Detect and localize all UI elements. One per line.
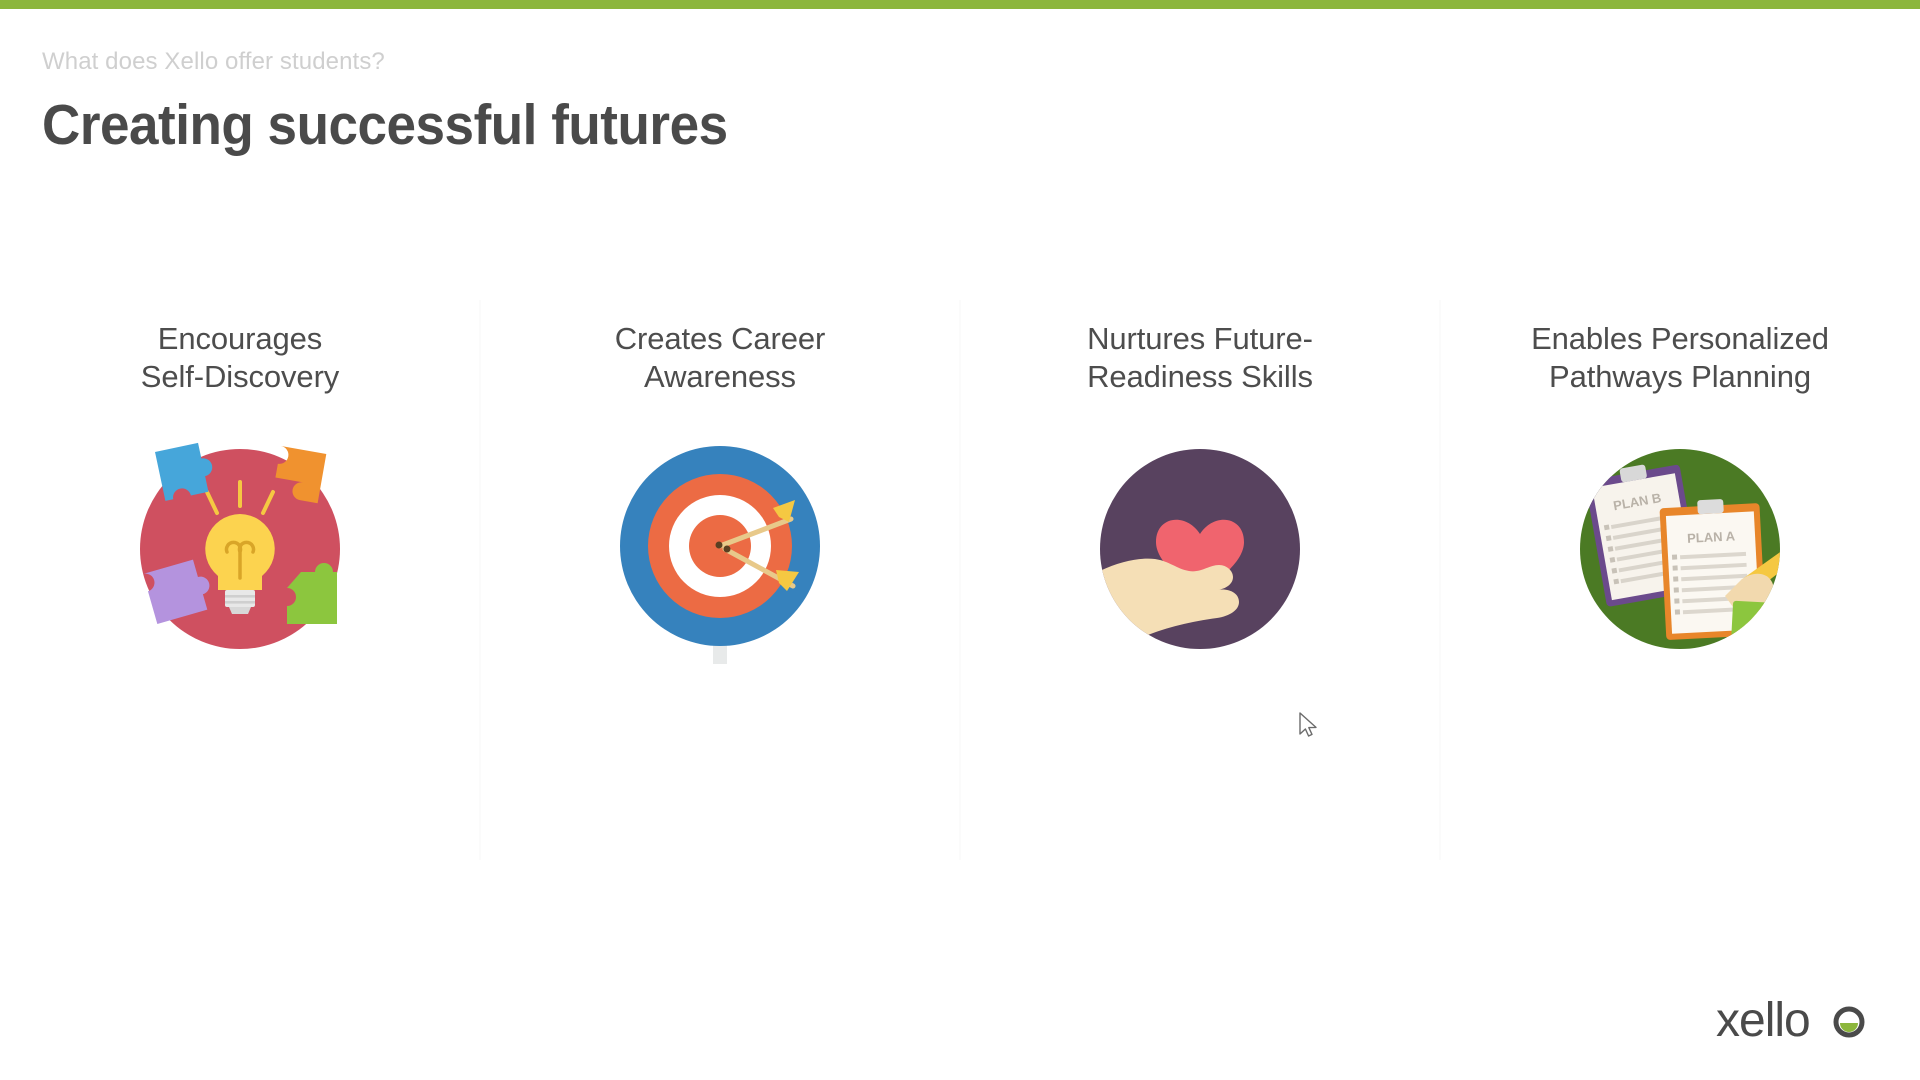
feature-label-line1: Encourages	[75, 320, 405, 358]
feature-label-line2: Pathways Planning	[1515, 358, 1845, 396]
feature-label-line1: Enables Personalized	[1515, 320, 1845, 358]
feature-label-line1: Nurtures Future-	[1035, 320, 1365, 358]
puzzle-lightbulb-icon	[115, 424, 365, 674]
xello-logo: xello	[1716, 994, 1876, 1048]
top-accent-bar	[0, 0, 1920, 9]
clipboard-plan-a-label: PLAN A	[1687, 528, 1736, 546]
feature-label: Creates Career Awareness	[555, 320, 885, 396]
feature-columns: Encourages Self-Discovery	[0, 320, 1920, 740]
slide-canvas: What does Xello offer students? Creating…	[0, 0, 1920, 1080]
mouse-pointer	[1298, 712, 1320, 747]
feature-label-line2: Self-Discovery	[75, 358, 405, 396]
clipboards-planning-icon: PLAN B	[1555, 424, 1805, 674]
heart-in-hand-icon	[1075, 424, 1325, 674]
slide-header: What does Xello offer students? Creating…	[42, 48, 1242, 158]
xello-logo-text: xello	[1716, 994, 1810, 1047]
feature-label-line2: Readiness Skills	[1035, 358, 1365, 396]
feature-column-pathways-planning: Enables Personalized Pathways Planning	[1440, 320, 1920, 740]
page-title: Creating successful futures	[42, 94, 1158, 158]
feature-column-future-readiness: Nurtures Future- Readiness Skills	[960, 320, 1440, 740]
feature-label: Encourages Self-Discovery	[75, 320, 405, 396]
eyebrow-text: What does Xello offer students?	[42, 48, 1242, 77]
feature-label-line2: Awareness	[555, 358, 885, 396]
feature-column-career-awareness: Creates Career Awareness	[480, 320, 960, 740]
feature-column-self-discovery: Encourages Self-Discovery	[0, 320, 480, 740]
target-arrows-icon	[595, 424, 845, 674]
feature-label: Enables Personalized Pathways Planning	[1515, 320, 1845, 396]
feature-label: Nurtures Future- Readiness Skills	[1035, 320, 1365, 396]
feature-label-line1: Creates Career	[555, 320, 885, 358]
